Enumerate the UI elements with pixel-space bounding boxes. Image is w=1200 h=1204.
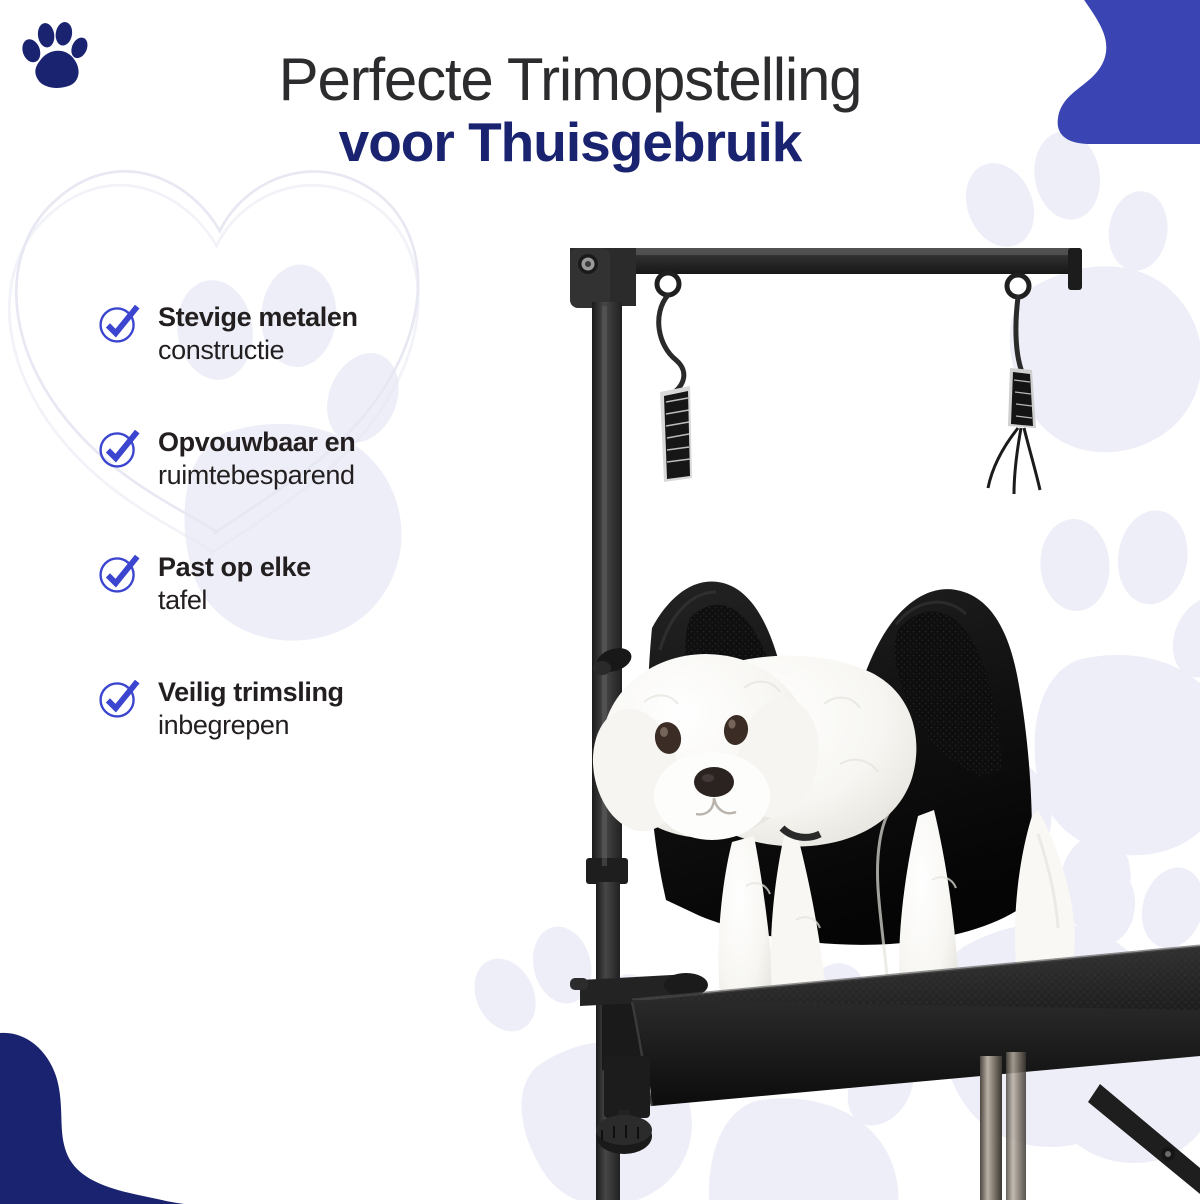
sling-hook-right — [1007, 275, 1029, 372]
feature-subtitle-3: tafel — [158, 584, 311, 617]
page-title-line2: voor Thuisgebruik — [110, 112, 1030, 174]
feature-item-3: Past op elke tafel — [96, 550, 546, 617]
blob-bottom-left-shape — [0, 1033, 184, 1204]
feature-title-2: Opvouwbaar en — [158, 426, 355, 459]
sling-strap-left — [660, 386, 692, 482]
sling-hook-left — [657, 273, 684, 396]
feature-subtitle-2: ruimtebesparend — [158, 459, 355, 492]
feature-text-4: Veilig trimsling inbegrepen — [158, 675, 344, 742]
feature-item-2: Opvouwbaar en ruimtebesparend — [96, 425, 546, 492]
check-circle-icon — [96, 677, 140, 721]
feature-list: Stevige metalen constructie Opvouwbaar e… — [96, 300, 546, 742]
product-photo-grooming-table — [540, 210, 1200, 1200]
check-circle-icon — [96, 302, 140, 346]
decorative-blob-bottom-left — [0, 1004, 184, 1204]
paw-print-icon — [18, 16, 92, 90]
feature-item-4: Veilig trimsling inbegrepen — [96, 675, 546, 742]
feature-title-1: Stevige metalen — [158, 301, 358, 334]
feature-text-3: Past op elke tafel — [158, 550, 311, 617]
page-title-line1: Perfecte Trimopstelling — [110, 48, 1030, 112]
grooming-table — [570, 946, 1200, 1200]
feature-text-2: Opvouwbaar en ruimtebesparend — [158, 425, 355, 492]
feature-subtitle-1: constructie — [158, 334, 358, 367]
check-circle-icon — [96, 427, 140, 471]
headline-block: Perfecte Trimopstelling voor Thuisgebrui… — [0, 48, 1200, 173]
feature-item-1: Stevige metalen constructie — [96, 300, 546, 367]
check-circle-icon — [96, 552, 140, 596]
feature-title-3: Past op elke — [158, 551, 311, 584]
sling-strap-right — [988, 368, 1040, 494]
feature-text-1: Stevige metalen constructie — [158, 300, 358, 367]
feature-title-4: Veilig trimsling — [158, 676, 344, 709]
feature-subtitle-4: inbegrepen — [158, 709, 344, 742]
grooming-arm-horizontal — [612, 248, 1082, 290]
arm-corner-bracket — [570, 248, 636, 308]
